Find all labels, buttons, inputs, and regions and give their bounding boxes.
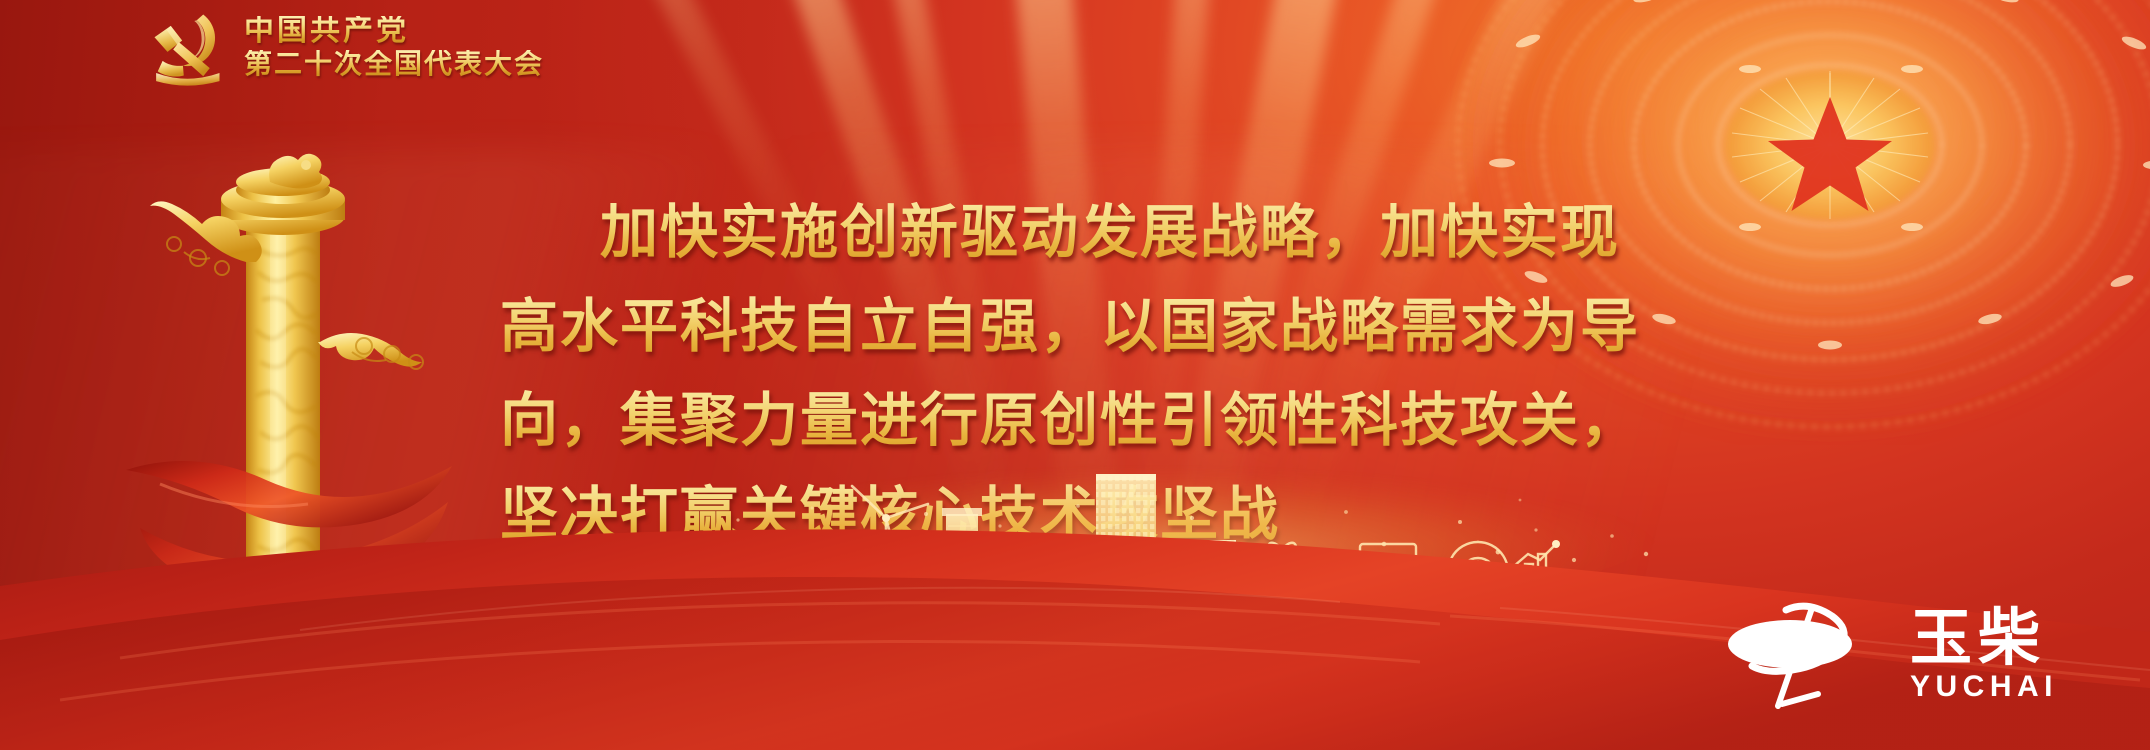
slogan-block: 加快实施创新驱动发展战略，加快实现 高水平科技自立自强，以国家战略需求为导 向，… (500, 186, 1730, 562)
slogan-line-2: 高水平科技自立自强，以国家战略需求为导 (500, 280, 1730, 374)
yuchai-ellipse-swoosh-mark (1720, 596, 1888, 714)
yuchai-wordmark: 玉柴 YUCHAI (1910, 608, 2058, 702)
yuchai-wordmark-cn: 玉柴 (1910, 608, 2046, 670)
congress-title-line-2: 第二十次全国代表大会 (244, 50, 544, 78)
cpc-hammer-and-sickle-emblem (146, 8, 228, 86)
congress-header-lockup: 中国共产党 第二十次全国代表大会 (146, 8, 544, 86)
slogan-line-4: 坚决打赢关键核心技术攻坚战 (500, 468, 1730, 562)
yuchai-wordmark-en: YUCHAI (1910, 672, 2058, 702)
slogan-line-1: 加快实施创新驱动发展战略，加快实现 (500, 186, 1730, 280)
congress-title: 中国共产党 第二十次全国代表大会 (244, 16, 544, 78)
yuchai-logo: 玉柴 YUCHAI (1720, 596, 2058, 714)
congress-title-line-1: 中国共产党 (244, 16, 544, 46)
slogan-line-3: 向，集聚力量进行原创性引领性科技攻关， (500, 374, 1730, 468)
congress-propaganda-banner: 中国共产党 第二十次全国代表大会 (0, 0, 2150, 750)
